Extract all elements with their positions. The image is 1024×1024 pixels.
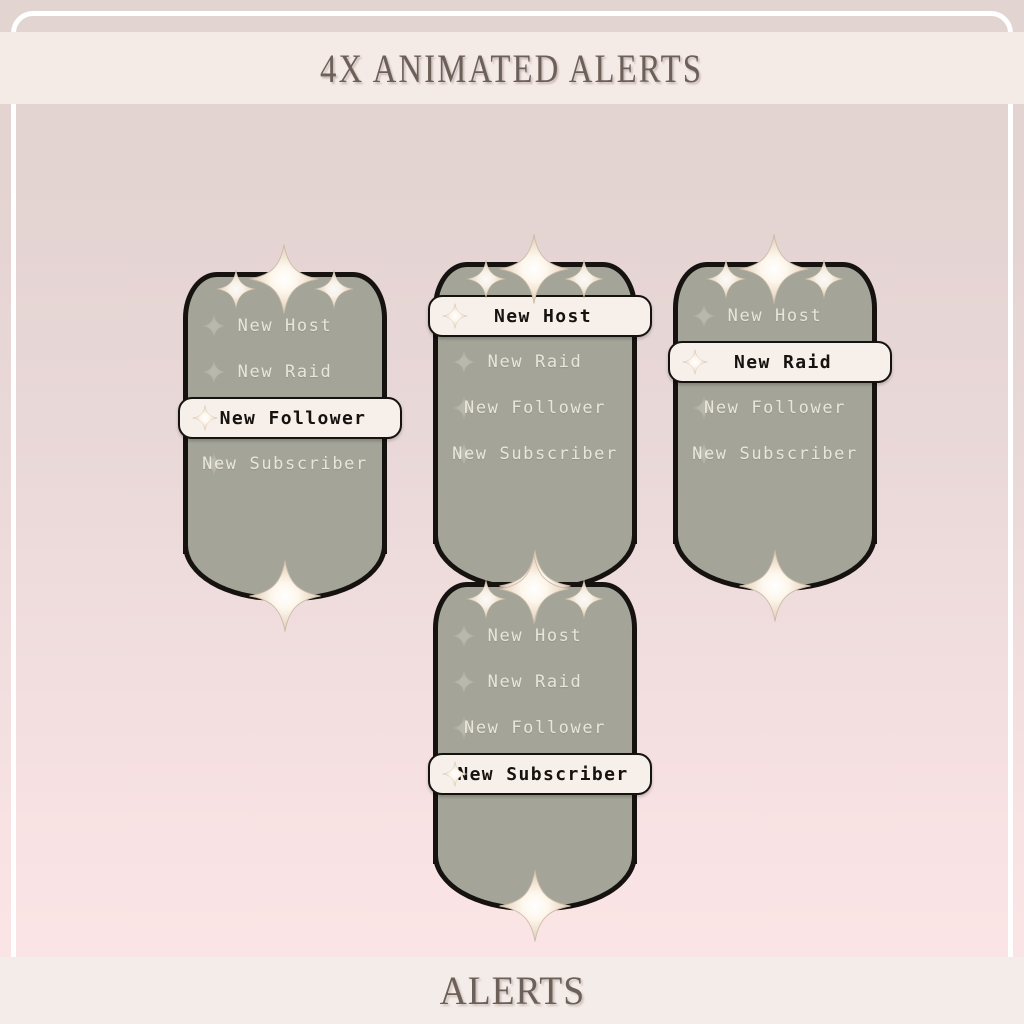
sparkle-icon [192,405,218,431]
sparkle-icon [442,303,468,329]
alert-row[interactable]: New Raid [438,339,632,385]
alert-row-active[interactable]: New Subscriber [438,751,632,797]
sparkle-bottom [738,549,812,627]
active-alert-pill[interactable]: New Subscriber [428,753,652,795]
alert-row[interactable]: New Subscriber [678,431,872,477]
alert-row[interactable]: New Follower [678,385,872,431]
alert-row-list: New HostNew RaidNew FollowerNew Subscrib… [438,267,632,487]
page-title: 4X ANIMATED ALERTS [321,45,704,92]
alert-row-label: New Follower [704,398,846,418]
footer-label: ALERTS [439,967,584,1014]
alert-card-body: New HostNew RaidNew FollowerNew Subscrib… [183,272,387,554]
alert-row-label: New Follower [464,398,606,418]
alert-row-active[interactable]: New Host [438,293,632,339]
alert-row-label: New Raid [488,352,583,372]
alert-card-body: New HostNew RaidNew FollowerNew Subscrib… [433,582,637,864]
active-alert-pill[interactable]: New Raid [668,341,892,383]
sparkle-icon [692,304,716,328]
sparkle-bottom [498,869,572,947]
alert-row-label: New Host [488,626,583,646]
sparkle-icon [692,442,716,466]
alert-row-active[interactable]: New Follower [188,395,382,441]
sparkle-icon [452,670,476,694]
footer-band: ALERTS [0,957,1024,1024]
alert-row-active[interactable]: New Raid [678,339,872,385]
alert-row-label: New Raid [488,672,583,692]
sparkle-icon [692,396,716,420]
sparkle-icon [202,360,226,384]
alert-card-foot [438,807,632,859]
alert-row-list: New HostNew RaidNew FollowerNew Subscrib… [438,587,632,807]
alert-row[interactable]: New Raid [438,659,632,705]
active-alert-pill[interactable]: New Host [428,295,652,337]
alert-row[interactable]: New Subscriber [188,441,382,487]
sparkle-icon [682,349,708,375]
alert-row[interactable]: New Follower [438,705,632,751]
alert-card-body: New HostNew RaidNew FollowerNew Subscrib… [673,262,877,544]
sparkle-icon [452,716,476,740]
sparkle-icon [452,350,476,374]
alert-row[interactable]: New Subscriber [438,431,632,477]
alert-row-label: New Subscriber [202,454,368,474]
poster-canvas: New HostNew RaidNew FollowerNew Subscrib… [0,0,1024,1024]
card-new-subscriber[interactable]: New HostNew RaidNew FollowerNew Subscrib… [433,582,637,864]
sparkle-icon [442,761,468,787]
alert-row-list: New HostNew RaidNew FollowerNew Subscrib… [678,267,872,487]
alert-card-body: New HostNew RaidNew FollowerNew Subscrib… [433,262,637,544]
alert-row-label: New Follower [464,718,606,738]
alert-row-label: New Raid [238,362,333,382]
card-new-follower[interactable]: New HostNew RaidNew FollowerNew Subscrib… [183,272,387,554]
alert-row-label: New Host [238,316,333,336]
alert-row-label: New Subscriber [692,444,858,464]
sparkle-icon [452,442,476,466]
alert-row-label: New Host [728,306,823,326]
sparkle-icon [202,314,226,338]
sparkle-icon [202,452,226,476]
alert-row[interactable]: New Host [438,613,632,659]
alert-row-list: New HostNew RaidNew FollowerNew Subscrib… [188,277,382,497]
card-new-raid[interactable]: New HostNew RaidNew FollowerNew Subscrib… [673,262,877,544]
alert-card-foot [438,487,632,539]
alert-card-foot [678,487,872,539]
alert-row[interactable]: New Raid [188,349,382,395]
alert-row[interactable]: New Host [678,293,872,339]
sparkle-icon [452,624,476,648]
alert-row[interactable]: New Host [188,303,382,349]
sparkle-bottom [248,559,322,637]
alert-row[interactable]: New Follower [438,385,632,431]
alert-cards-stage: New HostNew RaidNew FollowerNew Subscrib… [0,0,1024,1024]
active-alert-pill[interactable]: New Follower [178,397,402,439]
sparkle-icon [452,396,476,420]
card-new-host[interactable]: New HostNew RaidNew FollowerNew Subscrib… [433,262,637,544]
alert-row-label: New Subscriber [452,444,618,464]
alert-card-foot [188,497,382,549]
header-band: 4X ANIMATED ALERTS [0,32,1024,104]
